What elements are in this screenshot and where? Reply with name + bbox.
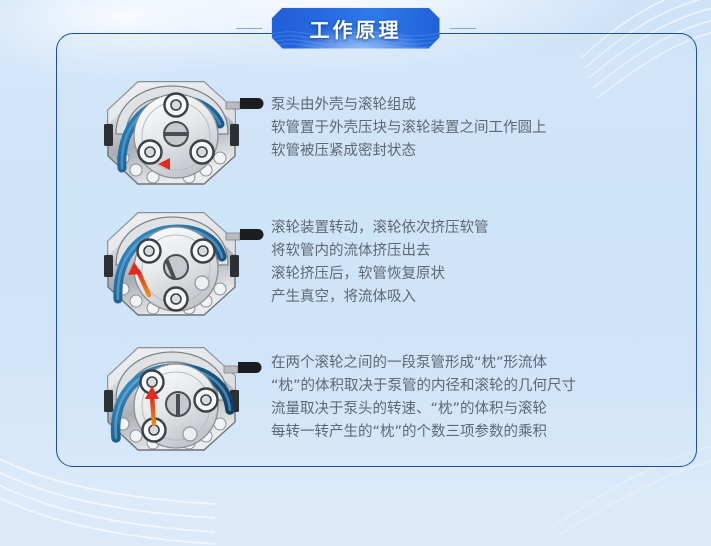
banner-rule-right — [450, 28, 476, 29]
principle-step-3: 在两个滚轮之间的一段泵管形成“枕”形流体 “枕”的体积取决于泵管的内径和滚轮的几… — [92, 338, 576, 468]
principle-line: 每转一转产生的“枕”的个数三项参数的乘积 — [271, 421, 576, 444]
title-banner-area: 工作原理 — [0, 6, 711, 50]
principle-line: “枕”的体积取决于泵管的内径和滚轮的几何尺寸 — [271, 375, 576, 398]
pump-head-diagram-1 — [92, 72, 267, 202]
principle-line: 将软管内的流体挤压出去 — [271, 240, 489, 263]
principle-line: 泵头由外壳与滚轮组成 — [271, 94, 547, 117]
pump-head-diagram-2 — [92, 203, 267, 333]
banner-rule-left — [236, 28, 262, 29]
principle-line: 滚轮装置转动，滚轮依次挤压软管 — [271, 217, 489, 240]
principle-step-1: 泵头由外壳与滚轮组成 软管置于外壳压块与滚轮装置之间工作圆上 软管被压紧成密封状… — [92, 72, 547, 202]
principle-step-2: 滚轮装置转动，滚轮依次挤压软管 将软管内的流体挤压出去 滚轮挤压后，软管恢复原状… — [92, 203, 489, 333]
page-title: 工作原理 — [310, 14, 402, 43]
pump-head-diagram-3 — [92, 338, 267, 468]
principle-text-1: 泵头由外壳与滚轮组成 软管置于外壳压块与滚轮装置之间工作圆上 软管被压紧成密封状… — [271, 72, 547, 163]
principle-text-3: 在两个滚轮之间的一段泵管形成“枕”形流体 “枕”的体积取决于泵管的内径和滚轮的几… — [271, 338, 576, 444]
principle-line: 滚轮挤压后，软管恢复原状 — [271, 263, 489, 286]
principle-line: 产生真空，将流体吸入 — [271, 286, 489, 309]
principle-line: 流量取决于泵头的转速、“枕”的体积与滚轮 — [271, 398, 576, 421]
principle-line: 软管置于外壳压块与滚轮装置之间工作圆上 — [271, 117, 547, 140]
principle-line: 软管被压紧成密封状态 — [271, 140, 547, 163]
title-banner: 工作原理 — [272, 8, 440, 49]
principle-line: 在两个滚轮之间的一段泵管形成“枕”形流体 — [271, 352, 576, 375]
principle-text-2: 滚轮装置转动，滚轮依次挤压软管 将软管内的流体挤压出去 滚轮挤压后，软管恢复原状… — [271, 203, 489, 309]
